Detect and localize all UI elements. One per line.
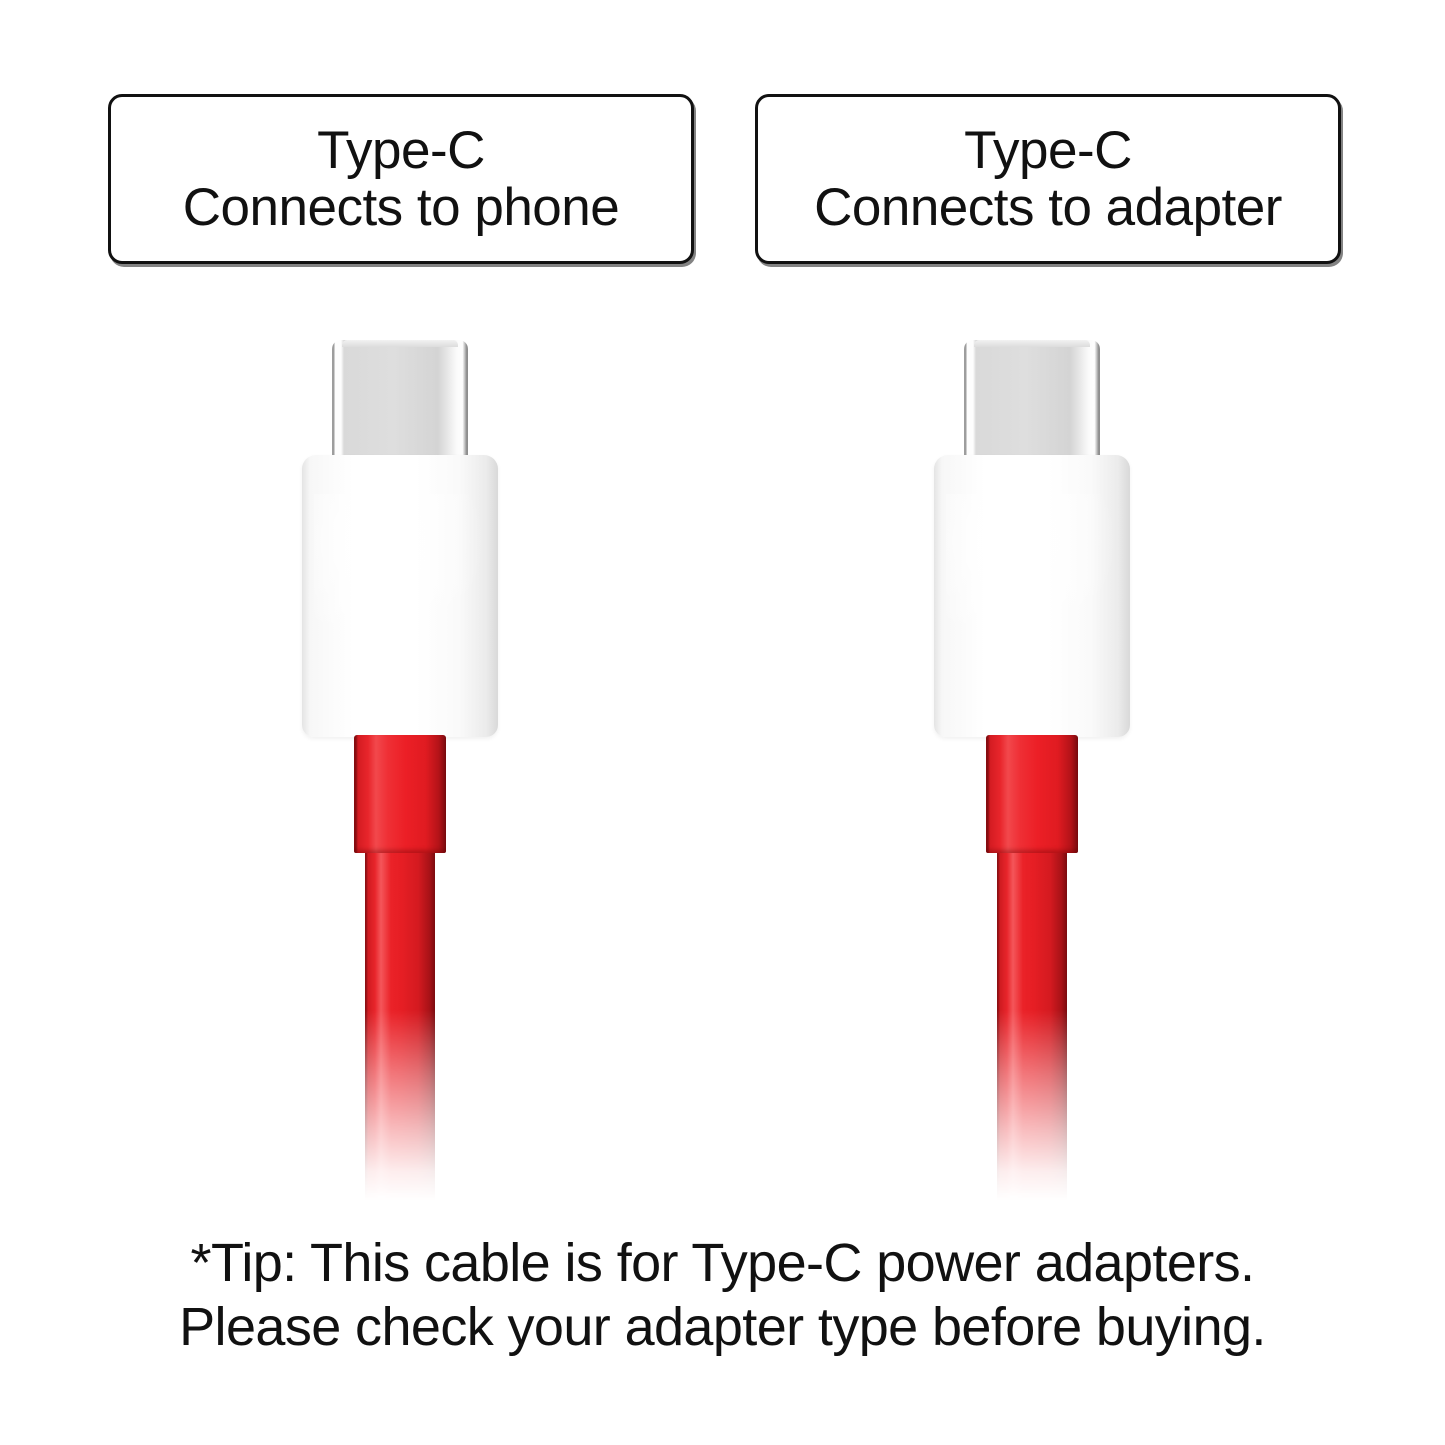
tip-note-line2: Please check your adapter type before bu…: [0, 1296, 1445, 1360]
cable-cord-left: [365, 848, 435, 1200]
cable-cord-right: [997, 848, 1067, 1200]
strain-relief-right: [986, 735, 1078, 853]
connector-housing-left: [302, 455, 498, 737]
strain-relief-left: [354, 735, 446, 853]
usb-c-connector-tip-icon-left: [332, 340, 468, 462]
usb-c-cable-left: [190, 0, 610, 1445]
tip-note: *Tip: This cable is for Type-C power ada…: [0, 1232, 1445, 1359]
connector-housing-right: [934, 455, 1130, 737]
usb-c-cable-right: [822, 0, 1242, 1445]
usb-c-connector-tip-icon-right: [964, 340, 1100, 462]
product-diagram-canvas: Type-C Connects to phone Type-C Connects…: [0, 0, 1445, 1445]
tip-note-line1: *Tip: This cable is for Type-C power ada…: [0, 1232, 1445, 1296]
